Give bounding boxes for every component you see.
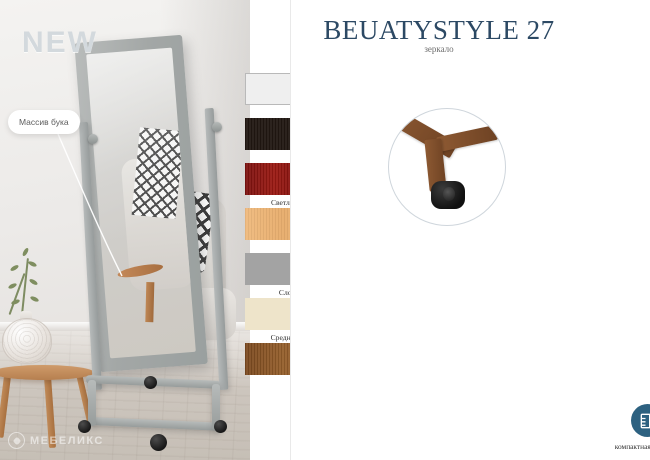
wood-leg-part bbox=[388, 108, 458, 158]
circle-logo-icon bbox=[8, 432, 25, 449]
mirror-pivot bbox=[88, 134, 98, 144]
info-panel: BEUATYSTYLE 27 зеркало bbox=[290, 0, 650, 460]
brand-name: МЕБЕЛИКС bbox=[30, 435, 104, 447]
mirror-support-post bbox=[205, 108, 229, 390]
mirror-glass bbox=[86, 48, 196, 359]
caster-detail-magnifier bbox=[388, 108, 506, 226]
mirror-caster bbox=[150, 434, 167, 451]
page-subtitle: зеркало bbox=[294, 44, 584, 54]
material-callout: Массив бука bbox=[8, 110, 80, 134]
mirror-base-frame bbox=[88, 380, 96, 426]
wood-leg-part bbox=[436, 125, 498, 152]
mirror-base-frame bbox=[92, 417, 222, 431]
feature-item-compact-package: компактная упаковка bbox=[606, 404, 650, 451]
feature-list: компактная упаковка простота сборки bbox=[606, 404, 650, 451]
vase bbox=[2, 318, 52, 364]
package-ruler-icon bbox=[631, 404, 650, 437]
panel-divider bbox=[290, 0, 291, 460]
page-title: BEUATYSTYLE 27 bbox=[294, 15, 584, 46]
grey-cheval-mirror bbox=[72, 38, 242, 448]
mirror-pivot bbox=[212, 122, 222, 132]
mirror-caster bbox=[144, 376, 157, 389]
caster-wheel bbox=[431, 181, 465, 209]
new-badge: NEW bbox=[22, 26, 98, 60]
product-photo-scene: NEW Массив бука МЕБЕЛИКС bbox=[0, 0, 250, 460]
infographic-root: NEW Массив бука МЕБЕЛИКС Белый Венге Мах… bbox=[0, 0, 650, 460]
feature-label: компактная упаковка bbox=[615, 442, 650, 451]
brand-watermark: МЕБЕЛИКС bbox=[8, 432, 104, 449]
mirror-caster bbox=[214, 420, 227, 433]
